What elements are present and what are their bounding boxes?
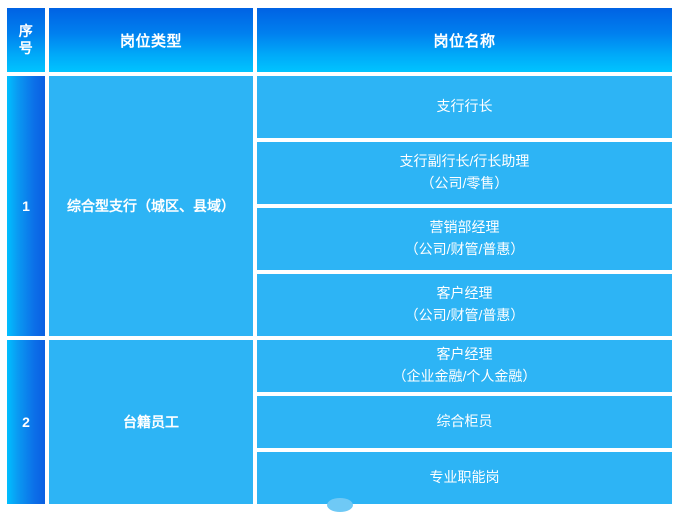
table-row: 2 台籍员工 客户经理 （企业金融/个人金融） 综合柜员 专业职能岗: [7, 340, 672, 504]
bottom-decoration-nub: [327, 498, 353, 512]
header-cell-sequence: 序 号: [7, 8, 45, 72]
job-name-line1: 营销部经理: [430, 217, 500, 239]
cell-job-name: 客户经理 （公司/财管/普惠）: [257, 274, 672, 336]
cell-job-type: 台籍员工: [49, 340, 253, 504]
header-cell-job-type: 岗位类型: [49, 8, 253, 72]
cell-sequence-number: 2: [7, 340, 45, 504]
job-name-line1: 客户经理: [437, 283, 493, 305]
cell-job-name: 支行副行长/行长助理 （公司/零售）: [257, 142, 672, 204]
table-row: 1 综合型支行（城区、县域） 支行行长 支行副行长/行长助理 （公司/零售） 营…: [7, 76, 672, 336]
cell-job-name: 支行行长: [257, 76, 672, 138]
job-name-line2: （公司/财管/普惠）: [405, 239, 525, 261]
job-name-line1: 支行副行长/行长助理: [400, 151, 530, 173]
job-name-line1: 支行行长: [437, 96, 493, 118]
header-sequence-line2: 号: [19, 40, 34, 58]
job-name-line2: （公司/零售）: [421, 173, 509, 195]
cell-job-type: 综合型支行（城区、县域）: [49, 76, 253, 336]
job-name-line1: 客户经理: [437, 344, 493, 366]
job-name-line1: 专业职能岗: [430, 467, 500, 489]
job-name-line1: 综合柜员: [437, 411, 493, 433]
cell-job-name: 客户经理 （企业金融/个人金融）: [257, 340, 672, 392]
job-name-line2: （公司/财管/普惠）: [405, 305, 525, 327]
cell-sequence-number: 1: [7, 76, 45, 336]
cell-job-name: 综合柜员: [257, 396, 672, 448]
cell-job-name-group: 支行行长 支行副行长/行长助理 （公司/零售） 营销部经理 （公司/财管/普惠）…: [257, 76, 672, 336]
header-cell-job-name: 岗位名称: [257, 8, 672, 72]
cell-job-name: 专业职能岗: [257, 452, 672, 504]
header-sequence-line1: 序: [19, 23, 34, 41]
job-name-line2: （企业金融/个人金融）: [393, 366, 537, 388]
job-positions-table: 序 号 岗位类型 岗位名称 1 综合型支行（城区、县域） 支行行长 支行副行长/…: [7, 8, 672, 504]
cell-job-name-group: 客户经理 （企业金融/个人金融） 综合柜员 专业职能岗: [257, 340, 672, 504]
table-body: 1 综合型支行（城区、县域） 支行行长 支行副行长/行长助理 （公司/零售） 营…: [7, 76, 672, 504]
cell-job-name: 营销部经理 （公司/财管/普惠）: [257, 208, 672, 270]
table-header-row: 序 号 岗位类型 岗位名称: [7, 8, 672, 72]
